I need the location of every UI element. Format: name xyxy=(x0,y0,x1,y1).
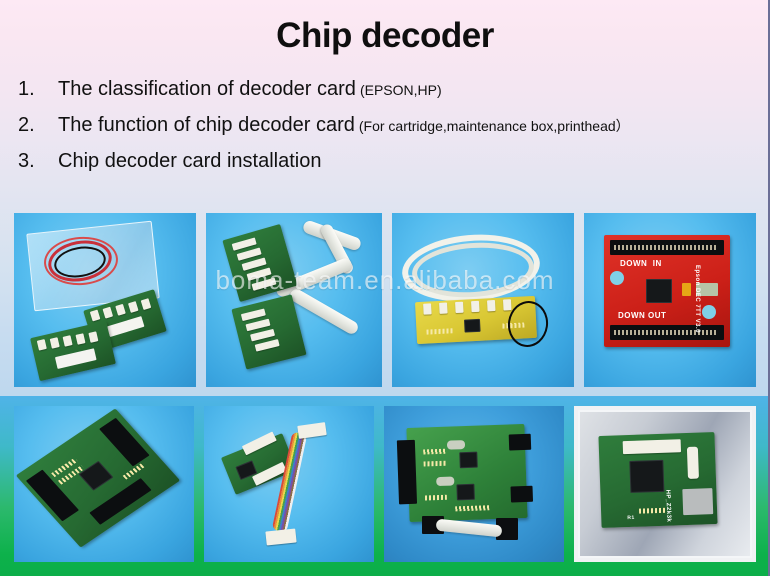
chip-slot xyxy=(115,304,126,316)
grid-spacer xyxy=(374,396,384,576)
pad-row xyxy=(423,449,445,455)
bullet-sub-text: (For cartridge,maintenance box,printhead… xyxy=(355,116,630,136)
bullet-main-text: Chip decoder card installation xyxy=(58,150,322,173)
chip-slot xyxy=(252,278,277,291)
gallery-photo-6[interactable] xyxy=(204,406,374,562)
chip-slot xyxy=(50,337,60,349)
grid-spacer xyxy=(0,396,14,576)
bullet-list: 1. The classification of decoder card (E… xyxy=(12,78,764,186)
chip-slot xyxy=(439,302,448,313)
silkscreen-r1: R1 xyxy=(627,515,635,521)
silkscreen-down-in: DOWN IN xyxy=(620,259,662,268)
decoder-card-lower xyxy=(231,294,306,369)
product-image-angled-decoder-board xyxy=(14,406,194,562)
product-image-yellow-decoder-board xyxy=(392,213,574,387)
bullet-number: 2. xyxy=(12,114,58,137)
gallery-photo-8[interactable]: HP_Z2k3k R1 xyxy=(574,406,756,562)
slide-canvas: Chip decoder 1. The classification of de… xyxy=(0,0,770,576)
controller-chip xyxy=(456,484,475,501)
controller-chip xyxy=(464,319,481,333)
chip-slot xyxy=(75,333,85,345)
red-decoder-board: DOWN IN DOWN OUT Epson DEC 7TT V3.0 xyxy=(604,235,730,347)
bullet-main-text: The function of chip decoder card xyxy=(58,114,355,137)
pad-row xyxy=(424,461,446,467)
bullet-number: 1. xyxy=(12,78,58,101)
crystal-oscillator xyxy=(436,476,454,486)
mounting-hole xyxy=(702,305,716,319)
header-connector xyxy=(509,434,532,451)
decoder-mainboard xyxy=(406,424,527,522)
product-image-red-epson-decoder: DOWN IN DOWN OUT Epson DEC 7TT V3.0 xyxy=(584,213,756,387)
silkscreen-down-out: DOWN OUT xyxy=(618,311,666,320)
product-image-green-mainboard xyxy=(384,406,564,562)
bullet-number: 3. xyxy=(12,150,58,173)
crystal-oscillator xyxy=(447,440,465,450)
gallery-photo-7[interactable] xyxy=(384,406,564,562)
crystal-oscillator xyxy=(687,447,699,479)
pad-row xyxy=(455,505,489,511)
cable-connector-bottom xyxy=(265,528,296,545)
controller-chip xyxy=(629,460,664,493)
grid-spacer xyxy=(196,213,206,387)
bullet-sub-text: (EPSON,HP) xyxy=(356,82,442,98)
pad-row xyxy=(639,508,667,514)
flat-ribbon-jumper xyxy=(436,519,503,538)
silkscreen-model: HP_Z2k3k xyxy=(664,490,671,523)
white-connector xyxy=(242,431,277,455)
grid-spacer xyxy=(194,396,204,576)
chip-slot xyxy=(503,299,512,310)
edge-connector-bottom xyxy=(610,325,724,340)
decoder-mainboard xyxy=(16,408,180,547)
chip-slot xyxy=(487,300,496,311)
edge-connector-top xyxy=(610,240,724,255)
product-image-bagged-decoder-cards xyxy=(14,213,196,387)
gallery-photo-5[interactable] xyxy=(14,406,194,562)
silkscreen-model: Epson DEC 7TT V3.0 xyxy=(694,265,700,333)
chip-slot xyxy=(455,302,464,313)
chip-slot xyxy=(63,335,73,347)
gallery-photo-1[interactable] xyxy=(14,213,196,387)
controller-chip xyxy=(79,461,114,491)
grid-spacer xyxy=(382,213,392,387)
chip-slot xyxy=(423,303,432,314)
white-connector xyxy=(623,439,681,454)
metal-pad xyxy=(682,488,713,515)
product-image-bagged-hp-decoder: HP_Z2k3k R1 xyxy=(574,406,756,562)
board-label xyxy=(55,348,97,369)
hp-decoder-board: HP_Z2k3k R1 xyxy=(598,432,717,528)
product-image-decoder-pair-ribbon xyxy=(206,213,382,387)
chip-slot xyxy=(90,310,101,322)
board-label xyxy=(107,316,145,337)
controller-chip xyxy=(459,452,478,469)
decoder-card-front xyxy=(30,321,116,381)
list-item: 3. Chip decoder card installation xyxy=(12,150,764,186)
bullet-main-text: The classification of decoder card xyxy=(58,78,356,101)
edge-connector-left xyxy=(397,440,417,505)
pad-row xyxy=(426,328,452,334)
gallery-photo-4[interactable]: DOWN IN DOWN OUT Epson DEC 7TT V3.0 xyxy=(584,213,756,387)
capacitor xyxy=(682,283,691,296)
chip-slot xyxy=(128,301,139,313)
header-connector xyxy=(510,486,533,503)
list-item: 2. The function of chip decoder card (Fo… xyxy=(12,114,764,150)
gallery-row-1: DOWN IN DOWN OUT Epson DEC 7TT V3.0 xyxy=(0,213,770,387)
list-item: 1. The classification of decoder card (E… xyxy=(12,78,764,114)
page-title: Chip decoder xyxy=(0,16,770,56)
grid-spacer xyxy=(0,213,14,387)
pad-row xyxy=(425,495,447,501)
chip-slot xyxy=(103,307,114,319)
cable-connector-top xyxy=(297,422,327,439)
gallery-photo-3[interactable] xyxy=(392,213,574,387)
controller-chip xyxy=(646,279,672,303)
grid-spacer xyxy=(574,213,584,387)
grid-spacer xyxy=(564,396,574,576)
gallery-row-2: HP_Z2k3k R1 xyxy=(0,396,770,576)
pin-row xyxy=(614,330,718,335)
pin-row xyxy=(614,245,718,250)
mounting-hole xyxy=(610,271,624,285)
chip-slot xyxy=(88,331,98,343)
header-connector xyxy=(99,418,149,467)
chip-slot xyxy=(471,301,480,312)
chip-slot xyxy=(141,298,152,310)
chip-slot xyxy=(37,339,47,351)
gallery-photo-2[interactable] xyxy=(206,213,382,387)
product-image-chip-board-rainbow-cable xyxy=(204,406,374,562)
chip-slot xyxy=(255,339,280,352)
